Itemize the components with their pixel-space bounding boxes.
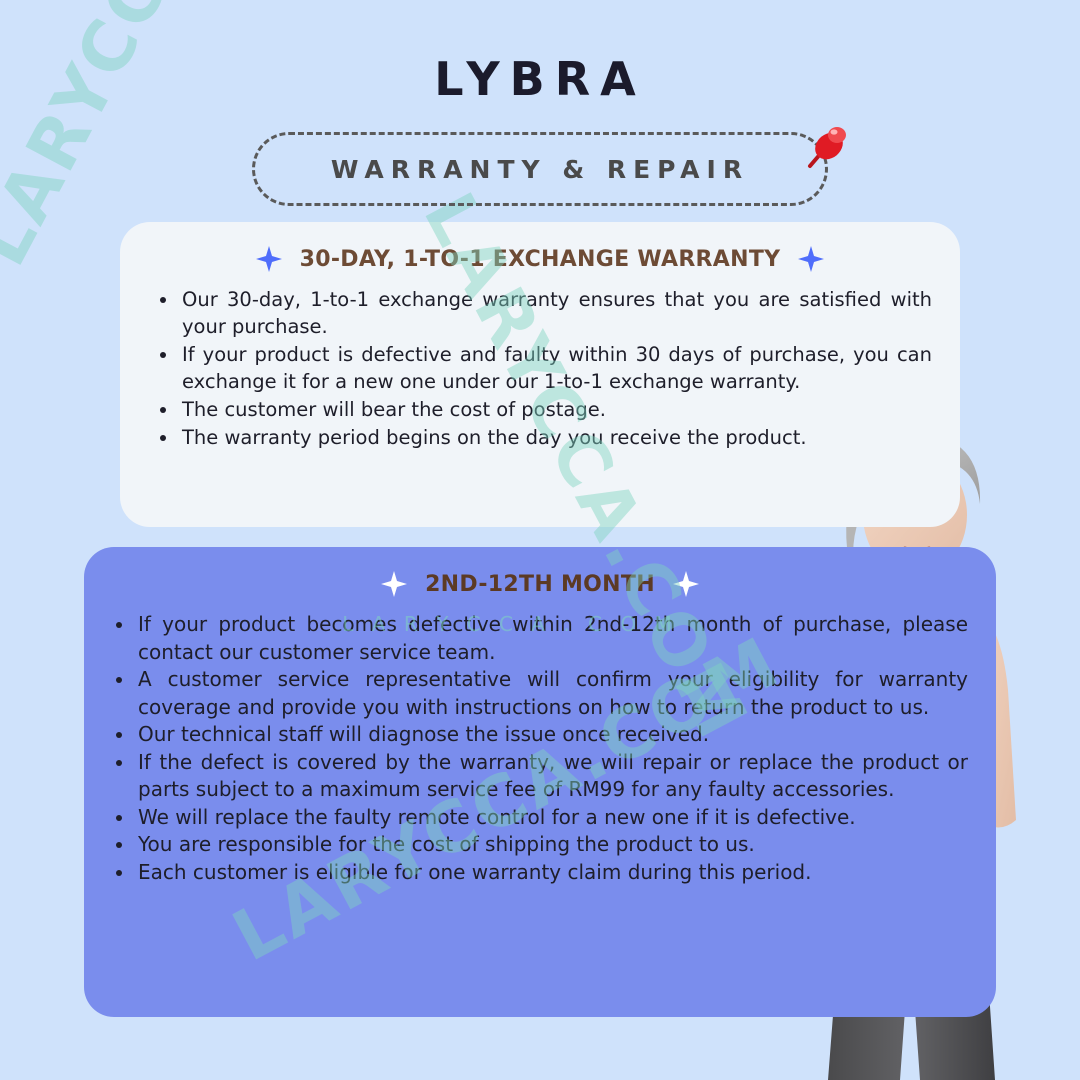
section-heading: 30-DAY, 1-TO-1 EXCHANGE WARRANTY (120, 246, 960, 272)
sparkle-icon-left (256, 246, 282, 272)
section-card-second-twelfth-month: 2ND-12TH MONTH If your product becomes d… (84, 547, 996, 1017)
bullet-list: If your product becomes defective within… (84, 611, 996, 886)
section-title: 2ND-12TH MONTH (425, 572, 655, 597)
banner-label: WARRANTY & REPAIR (331, 155, 749, 184)
list-item: We will replace the faulty remote contro… (138, 804, 968, 832)
list-item: The customer will bear the cost of posta… (182, 396, 932, 423)
list-item: If your product becomes defective within… (138, 611, 968, 666)
pushpin-icon (796, 118, 854, 176)
list-item: You are responsible for the cost of ship… (138, 831, 968, 859)
section-card-thirty-day: 30-DAY, 1-TO-1 EXCHANGE WARRANTY Our 30-… (120, 222, 960, 527)
list-item: Our technical staff will diagnose the is… (138, 721, 968, 749)
list-item: Each customer is eligible for one warran… (138, 859, 968, 887)
sparkle-icon-right (673, 571, 699, 597)
section-heading: 2ND-12TH MONTH (84, 571, 996, 597)
section-title: 30-DAY, 1-TO-1 EXCHANGE WARRANTY (300, 247, 781, 272)
list-item: If your product is defective and faulty … (182, 341, 932, 395)
list-item: The warranty period begins on the day yo… (182, 424, 932, 451)
list-item: If the defect is covered by the warranty… (138, 749, 968, 804)
page-title: LYBRA (0, 52, 1080, 106)
bullet-list: Our 30-day, 1-to-1 exchange warranty ens… (120, 286, 960, 451)
sparkle-icon-right (798, 246, 824, 272)
sparkle-icon-left (381, 571, 407, 597)
list-item: A customer service representative will c… (138, 666, 968, 721)
warranty-repair-banner: WARRANTY & REPAIR (252, 132, 828, 206)
list-item: Our 30-day, 1-to-1 exchange warranty ens… (182, 286, 932, 340)
